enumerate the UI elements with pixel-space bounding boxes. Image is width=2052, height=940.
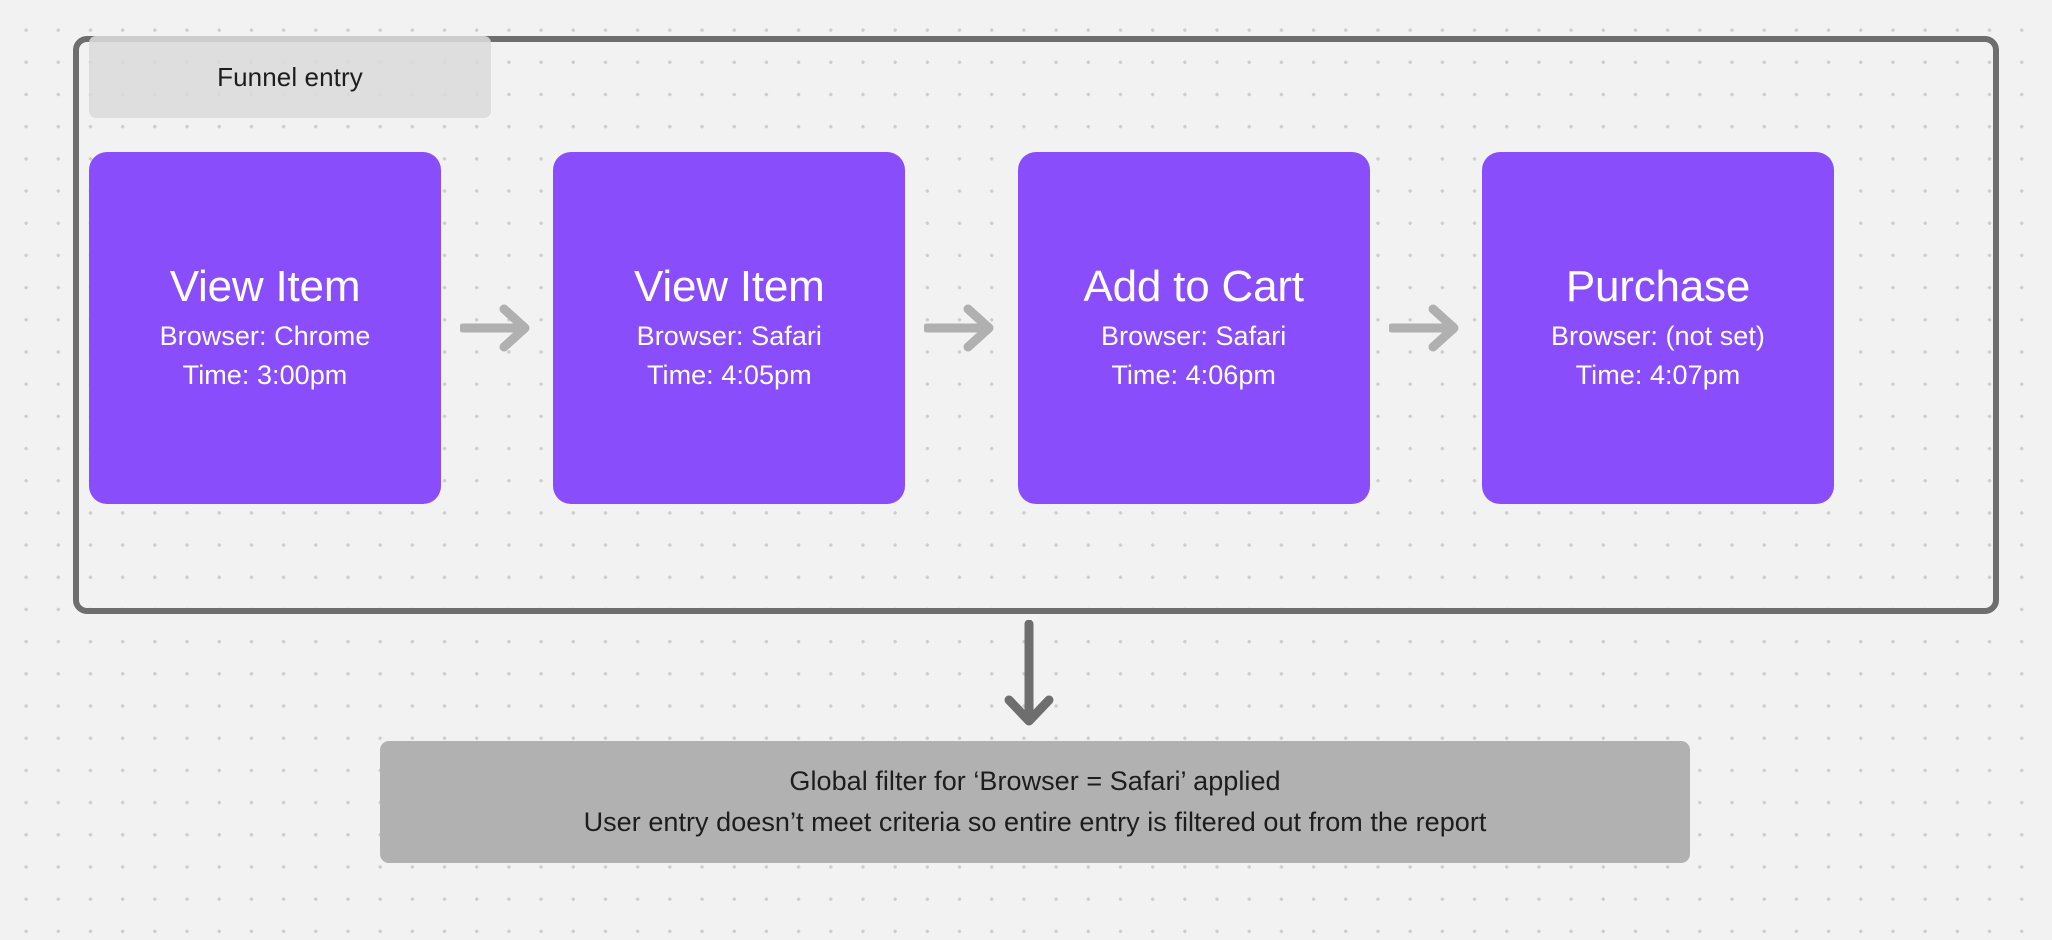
funnel-entry-label: Funnel entry bbox=[89, 36, 491, 118]
funnel-step-title: Add to Cart bbox=[1083, 262, 1303, 311]
arrow-right-icon bbox=[1389, 302, 1463, 354]
arrow-right-icon bbox=[924, 302, 998, 354]
funnel-step-card-3[interactable]: Add to Cart Browser: Safari Time: 4:06pm bbox=[1018, 152, 1370, 504]
filter-annotation-line-1: Global filter for ‘Browser = Safari’ app… bbox=[789, 761, 1280, 802]
funnel-step-card-2[interactable]: View Item Browser: Safari Time: 4:05pm bbox=[553, 152, 905, 504]
arrow-right-icon bbox=[460, 302, 534, 354]
funnel-step-browser: Browser: Safari bbox=[637, 317, 822, 355]
funnel-step-card-1[interactable]: View Item Browser: Chrome Time: 3:00pm bbox=[89, 152, 441, 504]
funnel-step-time: Time: 4:07pm bbox=[1576, 356, 1741, 394]
arrow-down-icon bbox=[1001, 620, 1057, 730]
funnel-step-title: View Item bbox=[634, 262, 825, 311]
funnel-step-browser: Browser: Safari bbox=[1101, 317, 1286, 355]
flow-connector-down bbox=[1001, 620, 1057, 730]
funnel-steps-row: View Item Browser: Chrome Time: 3:00pm V… bbox=[89, 152, 1834, 504]
funnel-step-browser: Browser: Chrome bbox=[160, 317, 371, 355]
funnel-step-title: View Item bbox=[170, 262, 361, 311]
funnel-step-browser: Browser: (not set) bbox=[1551, 317, 1765, 355]
filter-annotation-box: Global filter for ‘Browser = Safari’ app… bbox=[380, 741, 1690, 863]
funnel-step-time: Time: 3:00pm bbox=[183, 356, 348, 394]
funnel-entry-label-text: Funnel entry bbox=[217, 62, 363, 93]
funnel-step-time: Time: 4:06pm bbox=[1111, 356, 1276, 394]
funnel-step-title: Purchase bbox=[1566, 262, 1750, 311]
funnel-step-time: Time: 4:05pm bbox=[647, 356, 812, 394]
filter-annotation-line-2: User entry doesn’t meet criteria so enti… bbox=[584, 802, 1487, 843]
funnel-step-arrow-2 bbox=[905, 296, 1017, 360]
funnel-step-arrow-3 bbox=[1370, 296, 1482, 360]
funnel-step-arrow-1 bbox=[441, 296, 553, 360]
funnel-step-card-4[interactable]: Purchase Browser: (not set) Time: 4:07pm bbox=[1482, 152, 1834, 504]
